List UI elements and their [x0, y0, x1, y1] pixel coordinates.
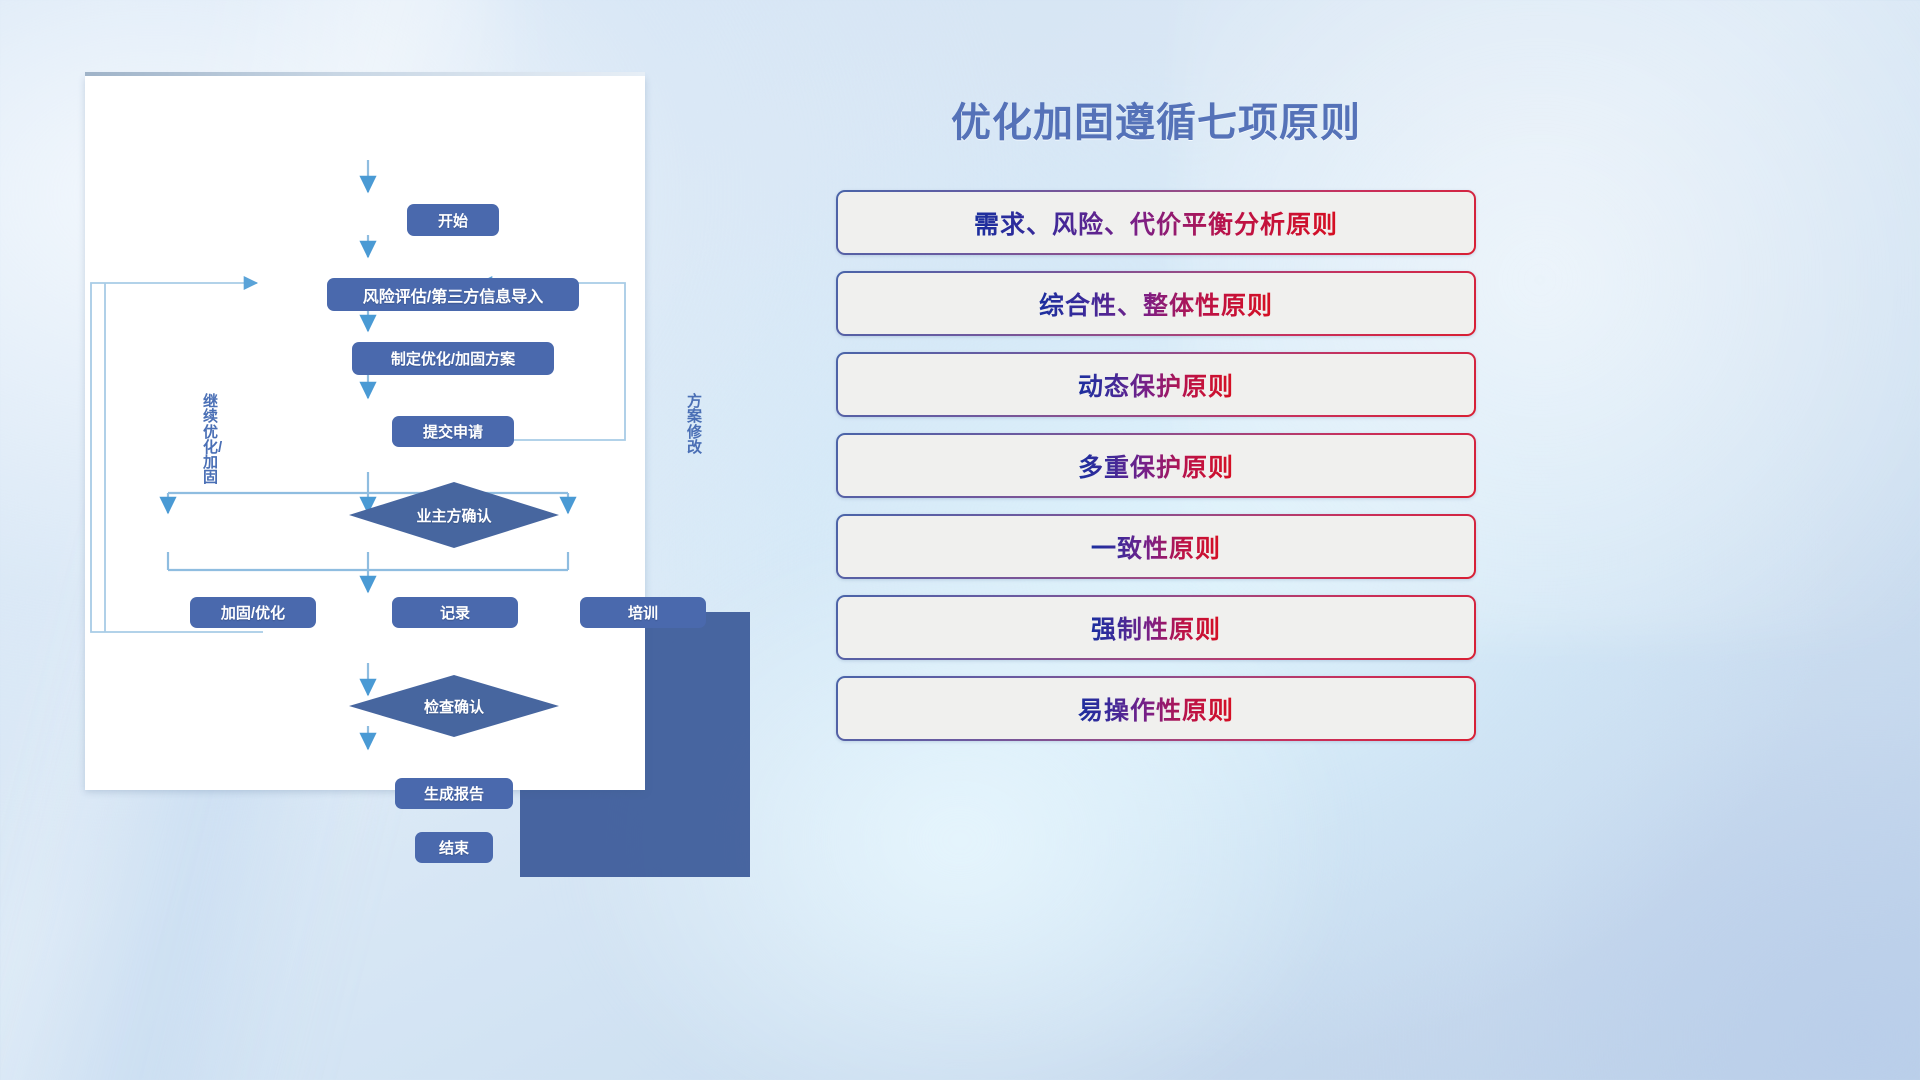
flowchart-connectors — [85, 76, 645, 790]
principle-card-inner: 需求、风险、代价平衡分析原则 — [838, 192, 1474, 253]
principle-card-label: 一致性原则 — [1091, 529, 1221, 565]
principle-card-label: 综合性、整体性原则 — [1039, 286, 1273, 322]
principle-card-label: 强制性原则 — [1091, 610, 1221, 646]
principle-card[interactable]: 多重保护原则 — [836, 433, 1476, 498]
principle-card-inner: 综合性、整体性原则 — [838, 273, 1474, 334]
principle-card-inner: 易操作性原则 — [838, 678, 1474, 739]
principle-card[interactable]: 强制性原则 — [836, 595, 1476, 660]
principle-card-label: 易操作性原则 — [1078, 691, 1234, 727]
principle-card[interactable]: 综合性、整体性原则 — [836, 271, 1476, 336]
flow-edge-label-left-loop: 继续优化/加固 — [203, 394, 218, 486]
principle-card[interactable]: 一致性原则 — [836, 514, 1476, 579]
page-title: 优化加固遵循七项原则 — [836, 90, 1476, 148]
flow-node-end[interactable]: 结束 — [415, 832, 493, 863]
principle-card-label: 多重保护原则 — [1078, 448, 1234, 484]
flow-edge-label-right-loop: 方案修改 — [687, 394, 702, 455]
flowchart-card: 开始风险评估/第三方信息导入制定优化/加固方案提交申请业主方确认加固/优化记录培… — [85, 76, 645, 790]
principle-card-label: 需求、风险、代价平衡分析原则 — [974, 205, 1338, 241]
principle-card[interactable]: 易操作性原则 — [836, 676, 1476, 741]
principles-card-list: 需求、风险、代价平衡分析原则综合性、整体性原则动态保护原则多重保护原则一致性原则… — [836, 190, 1476, 757]
principle-card-inner: 一致性原则 — [838, 516, 1474, 577]
principle-card-inner: 多重保护原则 — [838, 435, 1474, 496]
principle-card[interactable]: 需求、风险、代价平衡分析原则 — [836, 190, 1476, 255]
flowchart-panel: 开始风险评估/第三方信息导入制定优化/加固方案提交申请业主方确认加固/优化记录培… — [85, 76, 645, 790]
principle-card-inner: 动态保护原则 — [838, 354, 1474, 415]
principle-card-label: 动态保护原则 — [1078, 367, 1234, 403]
principle-card[interactable]: 动态保护原则 — [836, 352, 1476, 417]
principle-card-inner: 强制性原则 — [838, 597, 1474, 658]
principles-panel: 优化加固遵循七项原则 需求、风险、代价平衡分析原则综合性、整体性原则动态保护原则… — [836, 84, 1476, 814]
